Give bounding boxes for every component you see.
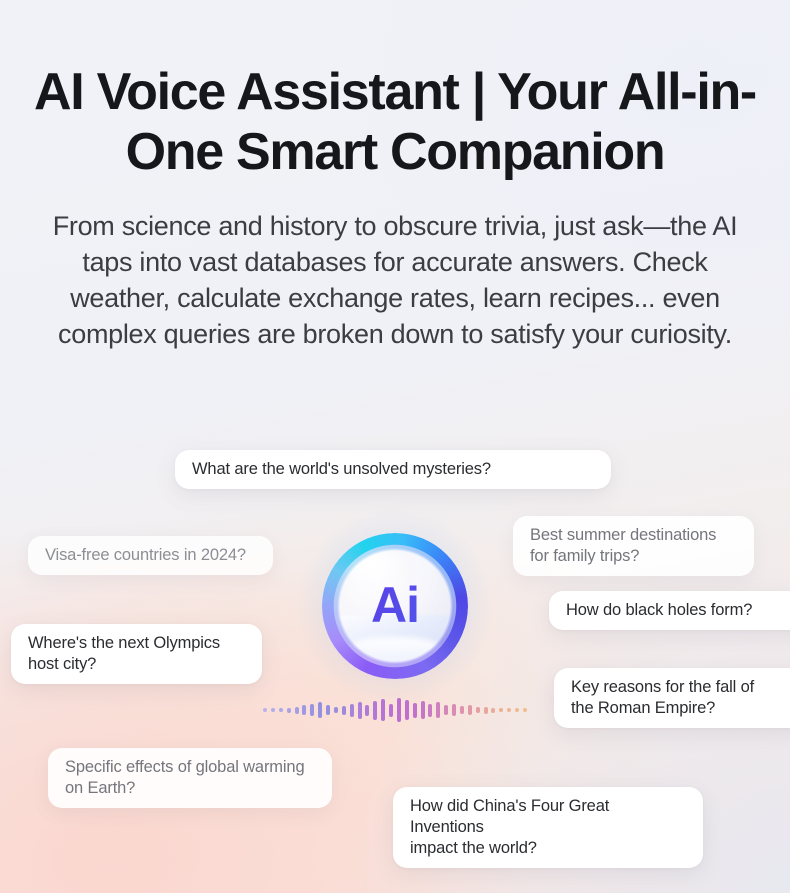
waveform-bar xyxy=(499,708,503,712)
waveform-bar xyxy=(263,708,267,712)
waveform-bar xyxy=(476,707,480,713)
suggestion-bubble-black-holes[interactable]: How do black holes form? xyxy=(549,591,790,630)
waveform-bar xyxy=(295,707,299,714)
waveform-bar xyxy=(405,700,409,720)
waveform-bar xyxy=(358,702,362,719)
waveform-bar xyxy=(452,704,456,716)
waveform-bar xyxy=(350,704,354,717)
suggestion-bubble-global-warming[interactable]: Specific effects of global warming on Ea… xyxy=(48,748,332,808)
waveform-bar xyxy=(397,698,401,722)
suggestion-bubble-summer-destinations[interactable]: Best summer destinations for family trip… xyxy=(513,516,754,576)
waveform-bar xyxy=(421,701,425,719)
ai-orb[interactable]: Ai xyxy=(322,533,468,679)
waveform-bar xyxy=(484,707,488,714)
waveform-bar xyxy=(342,706,346,715)
waveform-bar xyxy=(428,704,432,717)
waveform-bar xyxy=(507,708,511,712)
voice-waveform xyxy=(263,698,527,722)
waveform-bar xyxy=(310,704,314,716)
waveform-bar xyxy=(444,705,448,715)
waveform-bar xyxy=(271,708,275,712)
waveform-bar xyxy=(468,705,472,715)
header: AI Voice Assistant | Your All-in-One Sma… xyxy=(0,0,790,352)
waveform-bar xyxy=(287,708,291,713)
waveform-bar xyxy=(279,708,283,712)
waveform-bar xyxy=(302,705,306,715)
waveform-bar xyxy=(515,708,519,712)
suggestion-bubble-olympics-host-city[interactable]: Where's the next Olympics host city? xyxy=(11,624,262,684)
waveform-bar xyxy=(460,706,464,714)
waveform-bar xyxy=(523,708,527,712)
suggestion-bubble-roman-empire[interactable]: Key reasons for the fall of the Roman Em… xyxy=(554,668,790,728)
waveform-bar xyxy=(413,703,417,718)
orb-label: Ai xyxy=(322,533,468,679)
suggestion-bubble-four-great-inventions[interactable]: How did China's Four Great Inventions im… xyxy=(393,787,703,868)
waveform-bar xyxy=(389,704,393,717)
waveform-bar xyxy=(318,702,322,718)
waveform-bar xyxy=(334,707,338,713)
page-subtitle: From science and history to obscure triv… xyxy=(28,208,762,352)
suggestion-bubble-unsolved-mysteries[interactable]: What are the world's unsolved mysteries? xyxy=(175,450,611,489)
waveform-bar xyxy=(373,701,377,720)
page-root: AI Voice Assistant | Your All-in-One Sma… xyxy=(0,0,790,893)
waveform-bar xyxy=(381,699,385,721)
waveform-bar xyxy=(491,708,495,713)
waveform-bar xyxy=(436,702,440,718)
suggestion-bubble-visa-free-countries[interactable]: Visa-free countries in 2024? xyxy=(28,536,273,575)
waveform-bar xyxy=(326,705,330,715)
waveform-bar xyxy=(365,705,369,716)
page-title: AI Voice Assistant | Your All-in-One Sma… xyxy=(28,62,762,182)
